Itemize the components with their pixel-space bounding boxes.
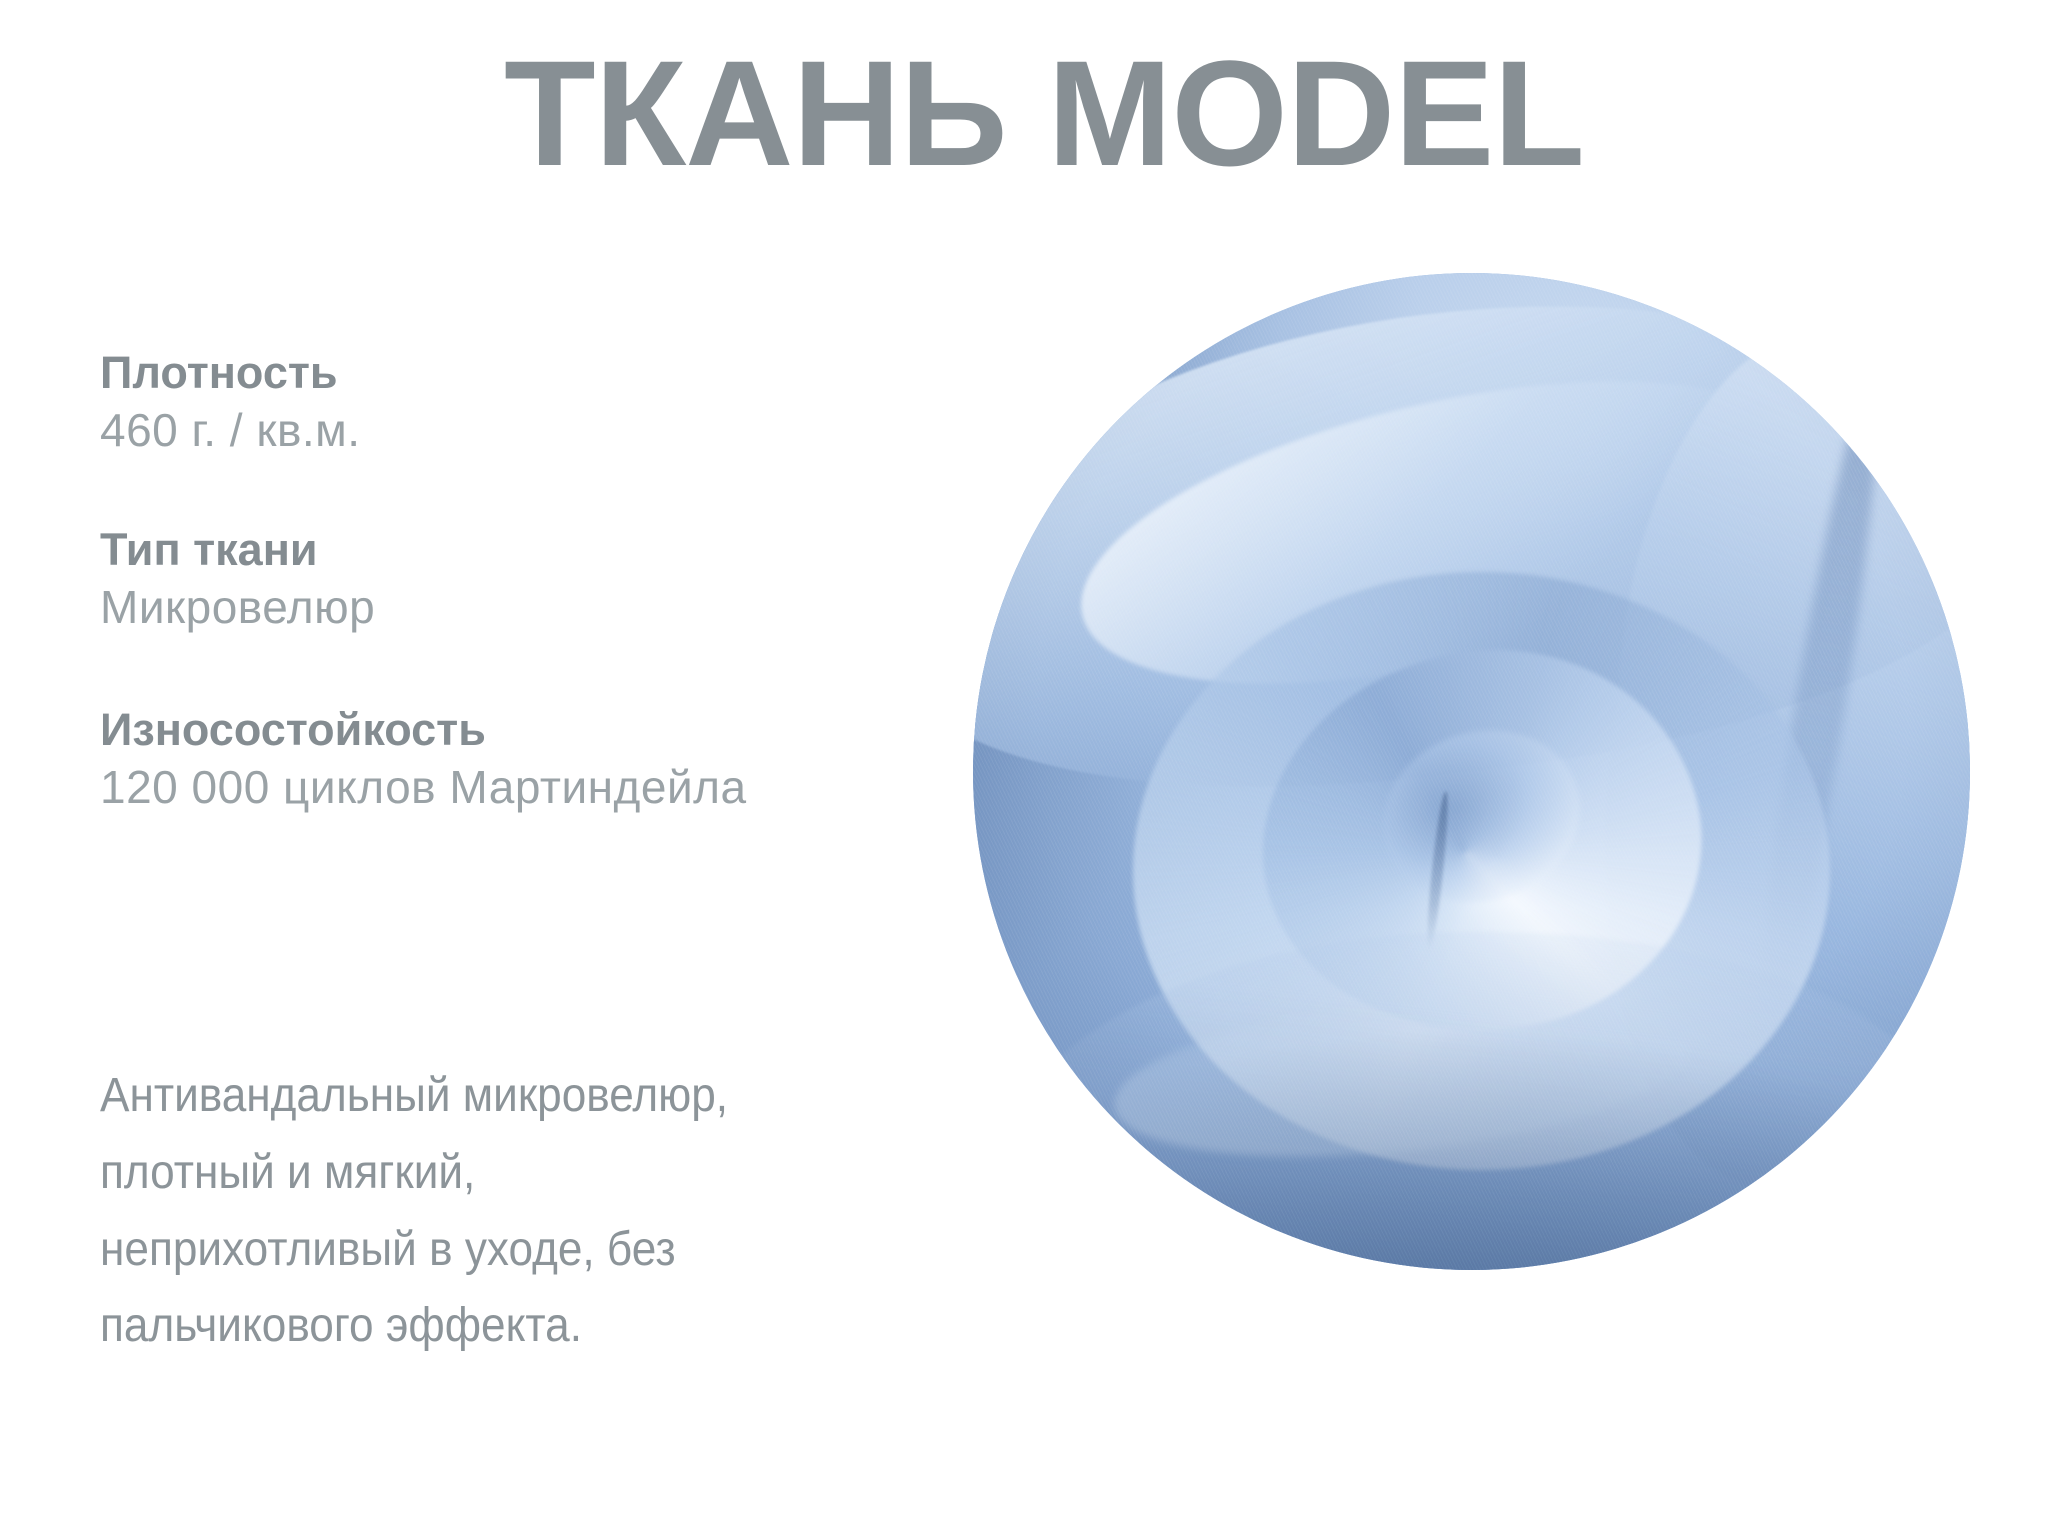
spec-value-wear-resistance: 120 000 циклов Мартиндейла [100,759,900,815]
description-line-2: плотный и мягкий, [100,1135,928,1212]
spec-label-wear-resistance: Износостойкость [100,705,900,755]
page-title: ТКАНЬ MODEL [0,38,2048,188]
description-paragraph: Антивандальный микровелюр, плотный и мяг… [100,1058,928,1365]
spec-value-fabric-type: Микровелюр [100,579,900,635]
specifications-list: Плотность 460 г. / кв.м. Тип ткани Микро… [100,348,900,816]
fabric-vignette [973,273,1970,1270]
fabric-photo-circle [973,273,1970,1270]
slide-root: ТКАНЬ MODEL Плотность 460 г. / кв.м. Тип… [0,0,2048,1536]
spec-label-density: Плотность [100,348,900,398]
description-line-3: неприхотливый в уходе, без [100,1212,928,1289]
fabric-photo-image [973,273,1970,1270]
spec-item-fabric-type: Тип ткани Микровелюр [100,525,900,636]
spec-item-wear-resistance: Износостойкость 120 000 циклов Мартиндей… [100,705,900,816]
spec-item-density: Плотность 460 г. / кв.м. [100,348,900,459]
description-line-4: пальчикового эффекта. [100,1288,928,1365]
description-line-1: Антивандальный микровелюр, [100,1058,928,1135]
spec-label-fabric-type: Тип ткани [100,525,900,575]
spec-value-density: 460 г. / кв.м. [100,402,900,458]
